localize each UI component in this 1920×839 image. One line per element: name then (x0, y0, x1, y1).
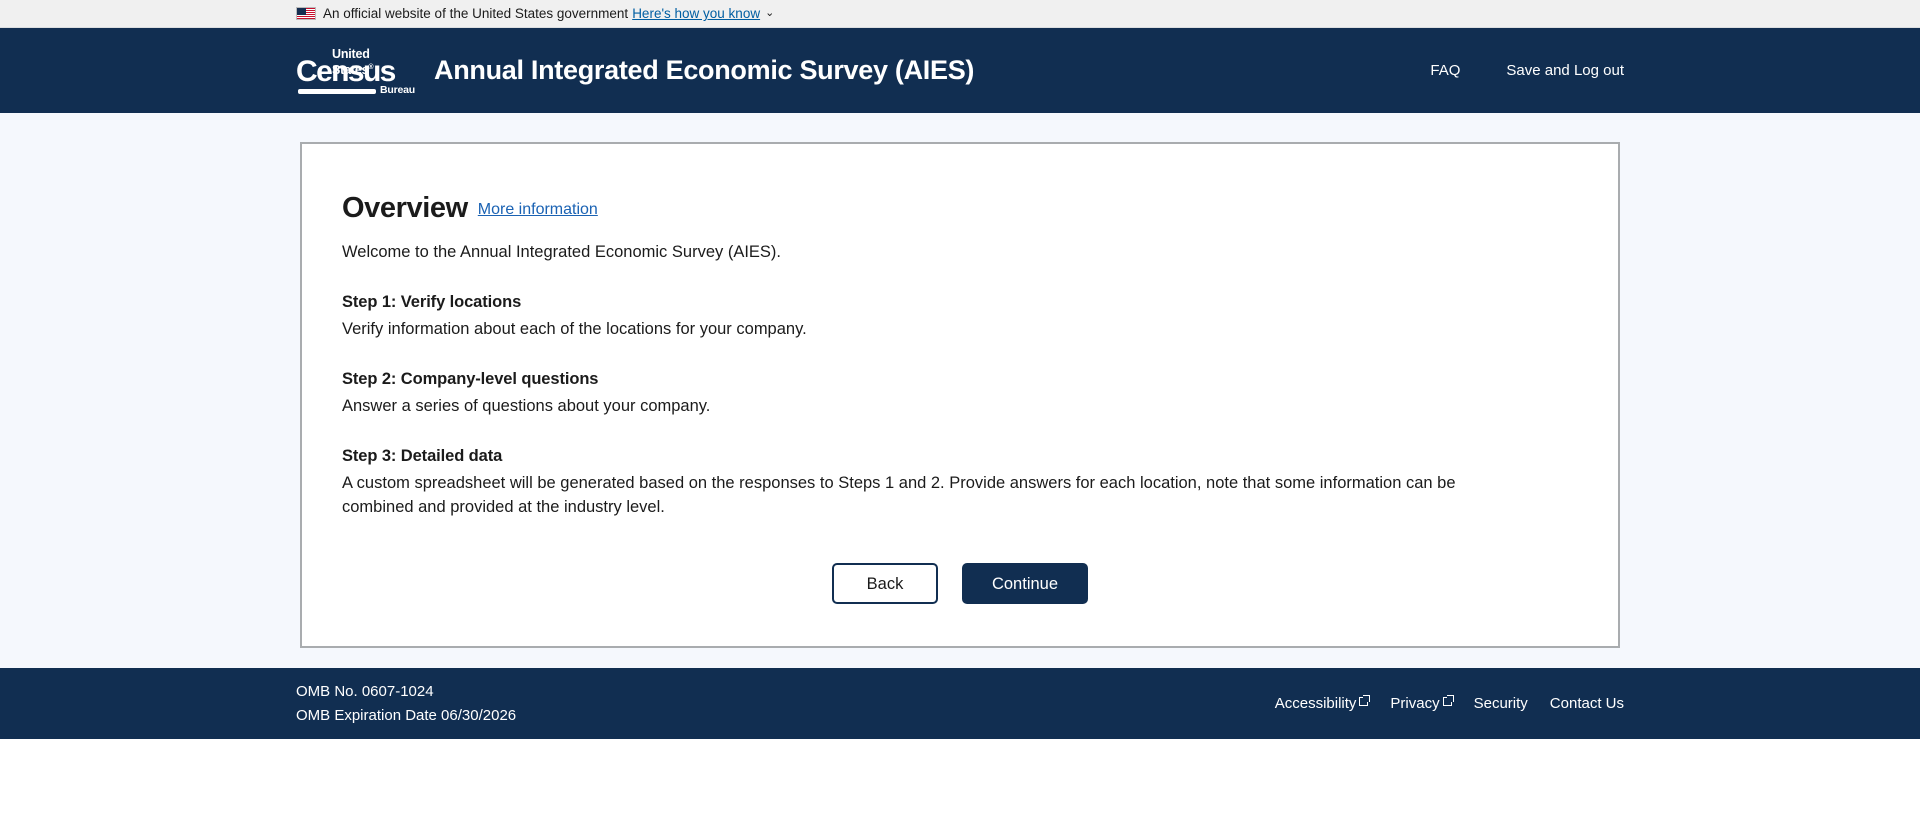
external-link-icon (1443, 697, 1452, 706)
form-actions: Back Continue (342, 563, 1578, 604)
footer-links: Accessibility Privacy Security Contact U… (1275, 695, 1624, 712)
accessibility-link-label: Accessibility (1275, 695, 1357, 712)
omb-block: OMB No. 0607-1024 OMB Expiration Date 06… (296, 680, 516, 727)
step-1-body: Verify information about each of the loc… (342, 318, 1527, 342)
chevron-down-icon[interactable]: ⌄ (765, 6, 774, 19)
step-1-section: Step 1: Verify locations Verify informat… (342, 293, 1578, 342)
overview-card: OverviewMore information Welcome to the … (300, 142, 1620, 648)
privacy-link[interactable]: Privacy (1390, 695, 1451, 712)
header-nav: FAQ Save and Log out (1430, 62, 1920, 79)
faq-link[interactable]: FAQ (1430, 62, 1460, 79)
continue-button[interactable]: Continue (962, 563, 1088, 604)
external-link-icon (1359, 697, 1368, 706)
page-root: An official website of the United States… (0, 0, 1920, 839)
back-button[interactable]: Back (832, 563, 938, 604)
logo-rule (298, 89, 376, 94)
page-title-row: OverviewMore information (342, 192, 1578, 225)
step-2-section: Step 2: Company-level questions Answer a… (342, 370, 1578, 419)
main-content-area: OverviewMore information Welcome to the … (0, 113, 1920, 668)
security-link[interactable]: Security (1474, 695, 1528, 712)
omb-expiration-date: OMB Expiration Date 06/30/2026 (296, 704, 516, 727)
usa-official-banner: An official website of the United States… (0, 0, 1920, 28)
app-title: Annual Integrated Economic Survey (AIES) (434, 55, 974, 86)
more-information-link[interactable]: More information (478, 201, 598, 218)
save-and-log-out-link[interactable]: Save and Log out (1506, 62, 1624, 79)
site-footer: OMB No. 0607-1024 OMB Expiration Date 06… (0, 668, 1920, 739)
contact-us-link[interactable]: Contact Us (1550, 695, 1624, 712)
banner-text: An official website of the United States… (323, 6, 628, 21)
omb-number: OMB No. 0607-1024 (296, 680, 516, 703)
welcome-text: Welcome to the Annual Integrated Economi… (342, 240, 1578, 265)
us-flag-icon (296, 7, 316, 20)
heres-how-you-know-link[interactable]: Here's how you know (632, 6, 760, 21)
site-header: United States® Census Bureau Annual Inte… (0, 28, 1920, 113)
step-2-body: Answer a series of questions about your … (342, 395, 1527, 419)
step-3-body: A custom spreadsheet will be generated b… (342, 472, 1527, 520)
step-1-title: Step 1: Verify locations (342, 293, 1578, 312)
step-3-title: Step 3: Detailed data (342, 447, 1578, 466)
logo-bureau-text: Bureau (380, 84, 415, 96)
step-3-section: Step 3: Detailed data A custom spreadshe… (342, 447, 1578, 520)
logo-census-text: Census (296, 57, 395, 87)
census-bureau-logo[interactable]: United States® Census Bureau (296, 48, 414, 94)
step-2-title: Step 2: Company-level questions (342, 370, 1578, 389)
page-title: Overview (342, 192, 468, 225)
accessibility-link[interactable]: Accessibility (1275, 695, 1369, 712)
privacy-link-label: Privacy (1390, 695, 1439, 712)
